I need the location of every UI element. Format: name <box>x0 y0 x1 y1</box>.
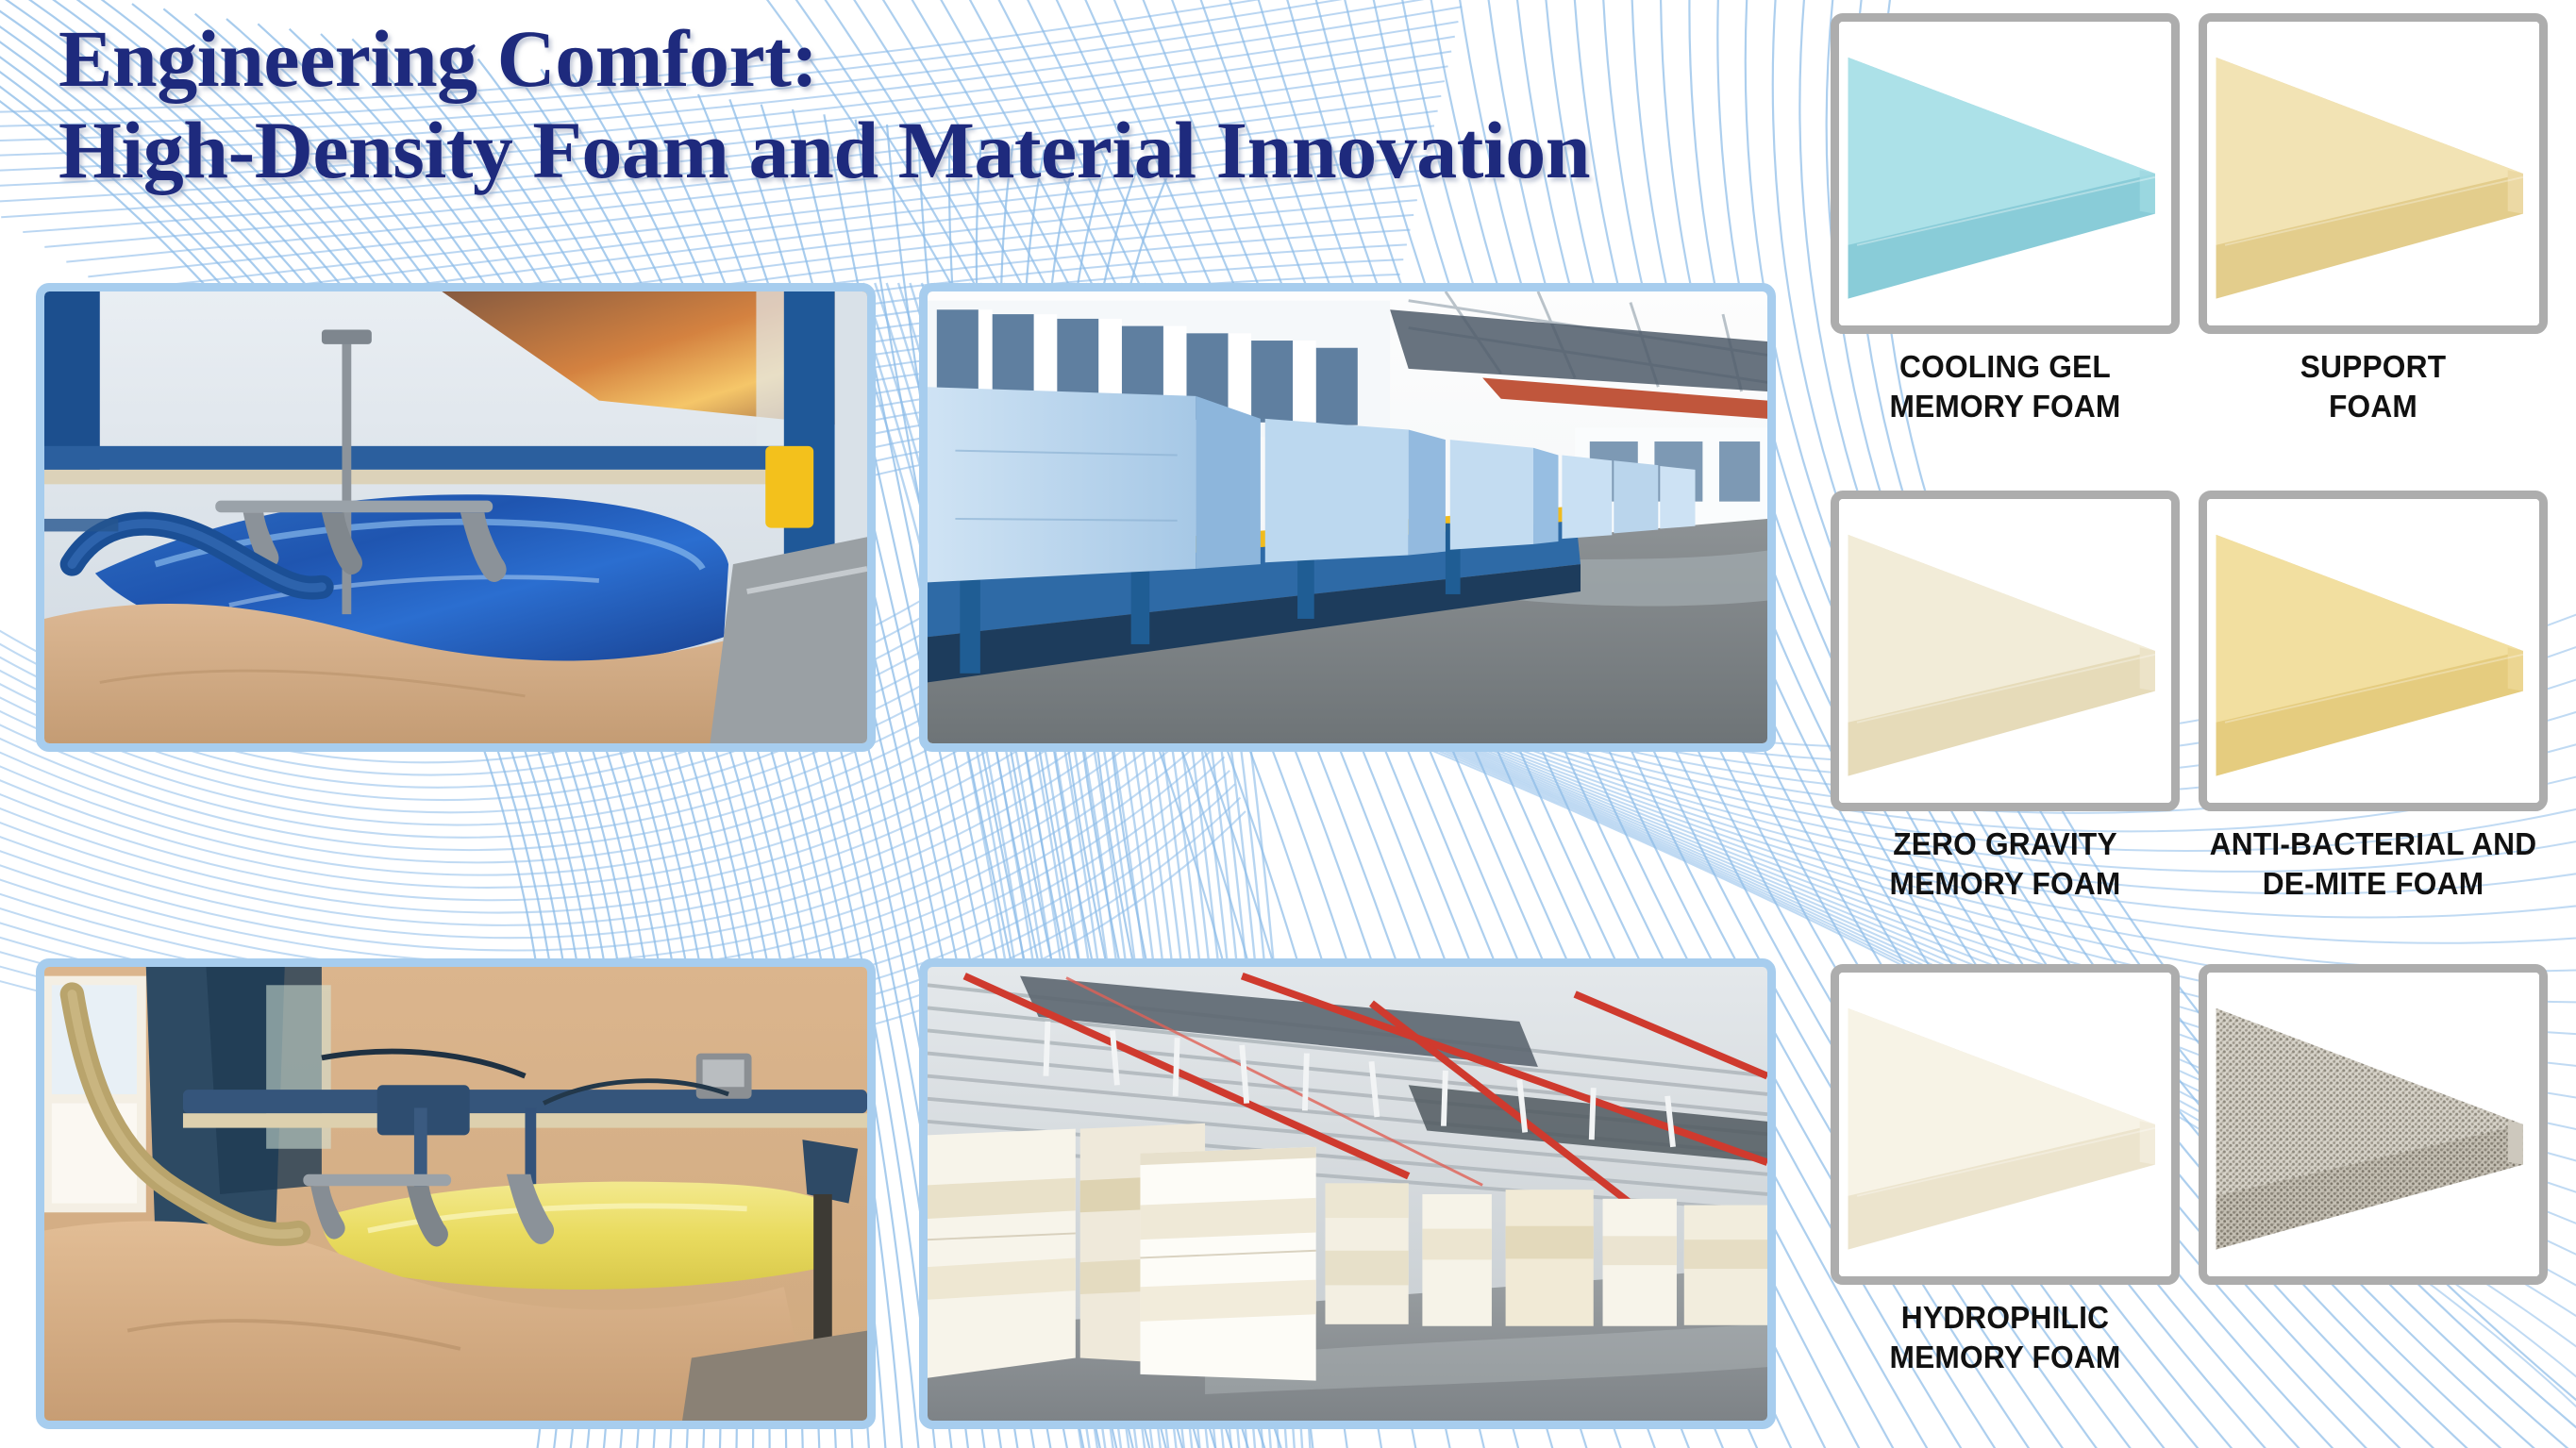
foam-wedge-icon-4 <box>1839 973 2171 1276</box>
photo-foam-pouring-blue-chemical[interactable] <box>36 283 876 752</box>
foam-swatch-frame-1 <box>2199 13 2548 334</box>
foam-sample-open-cell-reticulated-foam[interactable] <box>2199 964 2557 1298</box>
photo-inner-bl <box>44 967 867 1421</box>
foam-label-0: COOLING GEL MEMORY FOAM <box>1837 347 2172 426</box>
title-line-1: Engineering Comfort: <box>59 17 1590 101</box>
foam-swatch-frame-0 <box>1831 13 2180 334</box>
photo-foam-pouring-yellow-chemical[interactable] <box>36 958 876 1429</box>
photo-foam-block-conveyor-line[interactable] <box>919 283 1776 752</box>
foam-sample-grid: COOLING GEL MEMORY FOAM SUPPORT FOAM <box>1821 0 2576 1448</box>
foam-label-2: ZERO GRAVITY MEMORY FOAM <box>1837 824 2172 904</box>
poster-canvas: Engineering Comfort: High-Density Foam a… <box>0 0 2576 1448</box>
foam-sample-hydrophilic-memory-foam[interactable]: HYDROPHILIC MEMORY FOAM <box>1831 964 2189 1377</box>
foam-label-1: SUPPORT FOAM <box>2205 347 2540 426</box>
photo-inner-tl <box>44 291 867 743</box>
foam-label-4: HYDROPHILIC MEMORY FOAM <box>1837 1298 2172 1377</box>
foam-sample-support-foam[interactable]: SUPPORT FOAM <box>2199 13 2557 426</box>
poster-title: Engineering Comfort: High-Density Foam a… <box>59 17 1590 191</box>
foam-swatch-frame-2 <box>1831 491 2180 811</box>
foam-sample-zero-gravity-memory-foam[interactable]: ZERO GRAVITY MEMORY FOAM <box>1831 491 2189 904</box>
foam-sample-anti-bacterial-de-mite-foam[interactable]: ANTI-BACTERIAL AND DE-MITE FOAM <box>2199 491 2557 904</box>
foam-swatch-frame-4 <box>1831 964 2180 1285</box>
photo-inner-tr <box>928 291 1767 743</box>
foam-wedge-icon-5 <box>2207 973 2539 1276</box>
foam-wedge-icon-0 <box>1839 22 2171 325</box>
photo-foam-block-warehouse-storage[interactable] <box>919 958 1776 1429</box>
foam-swatch-frame-5 <box>2199 964 2548 1285</box>
foam-label-3: ANTI-BACTERIAL AND DE-MITE FOAM <box>2205 824 2540 904</box>
foam-wedge-icon-2 <box>1839 499 2171 803</box>
factory-photo-grid <box>36 283 1777 1429</box>
foam-wedge-icon-1 <box>2207 22 2539 325</box>
foam-sample-cooling-gel-memory-foam[interactable]: COOLING GEL MEMORY FOAM <box>1831 13 2189 426</box>
title-line-2: High-Density Foam and Material Innovatio… <box>59 108 1590 192</box>
photo-inner-br <box>928 967 1767 1421</box>
foam-swatch-frame-3 <box>2199 491 2548 811</box>
foam-wedge-icon-3 <box>2207 499 2539 803</box>
